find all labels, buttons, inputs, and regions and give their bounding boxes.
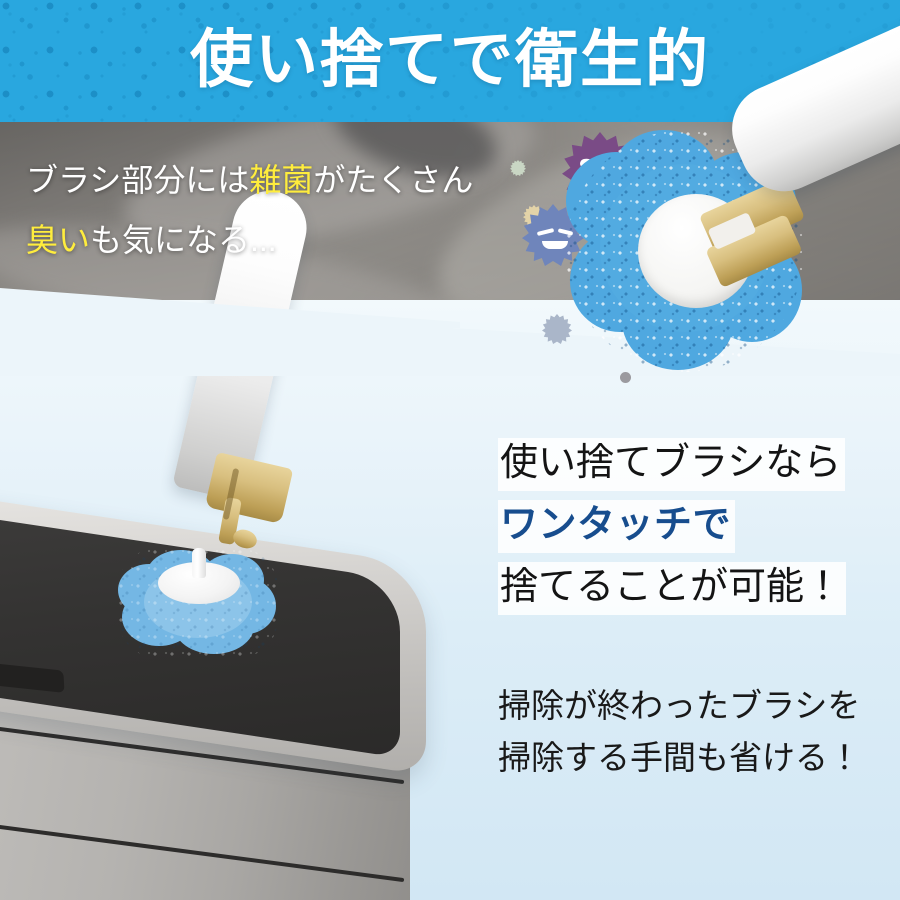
brush-head-assembly (560, 110, 900, 390)
copy-block-primary: 使い捨てブラシなら ワンタッチで 捨てることが可能！ (498, 438, 846, 624)
top-copy-line-2-highlight: 臭い (26, 222, 90, 258)
top-copy-block: ブラシ部分には雑菌がたくさん 臭いも気になる... (26, 150, 473, 270)
top-copy-line-2: 臭いも気になる... (26, 210, 473, 270)
copy-b-line-1: 掃除が終わったブラシを (498, 680, 861, 732)
copy-a-line-1: 使い捨てブラシなら (498, 438, 845, 491)
advertisement-canvas: 使い捨てで衛生的 (0, 0, 900, 900)
sponge-stem (192, 548, 206, 578)
copy-b-line-2: 掃除する手間も省ける！ (498, 732, 861, 784)
top-copy-line-1-highlight: 雑菌 (249, 162, 313, 198)
top-copy-line-1-before: ブラシ部分には (26, 162, 249, 198)
top-copy-line-1: ブラシ部分には雑菌がたくさん (26, 150, 473, 210)
copy-a-line-3: 捨てることが可能！ (498, 562, 846, 615)
handle-gold-collar (205, 452, 294, 524)
germ-dot-mint-icon (510, 160, 526, 176)
copy-a-line-2-accent: ワンタッチで (498, 500, 735, 553)
top-copy-line-1-after: がたくさん (313, 162, 473, 198)
discarded-sponge-head (118, 548, 278, 658)
top-copy-line-2-after: も気になる... (90, 222, 277, 258)
copy-block-secondary: 掃除が終わったブラシを 掃除する手間も省ける！ (498, 680, 861, 784)
lower-scene-background: 使い捨てブラシなら ワンタッチで 捨てることが可能！ 掃除が終わったブラシを 掃… (0, 300, 900, 900)
